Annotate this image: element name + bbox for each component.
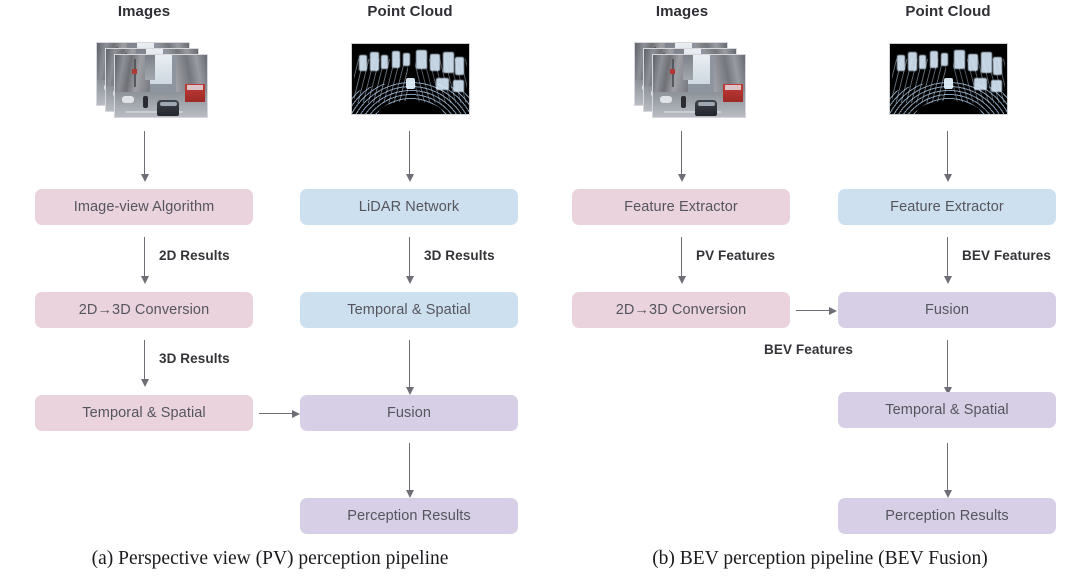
panel-b-arrow-temporal-spatial-to-perception-results	[947, 443, 948, 491]
panel-a-lidar-point-cloud-icon	[351, 43, 470, 115]
panel-a-node-2d-3d-conversion[interactable]: 2D→3D Conversion	[35, 292, 253, 328]
node-label: Temporal & Spatial	[347, 302, 471, 318]
panel-b-node-fusion[interactable]: Fusion	[838, 292, 1056, 328]
panel-a-arrow-3d-results-right	[409, 237, 410, 277]
panel-a-edge-label-3d-results-right: 3D Results	[424, 248, 495, 263]
panel-a-node-perception-results[interactable]: Perception Results	[300, 498, 518, 534]
node-label: Fusion	[387, 405, 431, 421]
panel-a-node-image-view-algorithm[interactable]: Image-view Algorithm	[35, 189, 253, 225]
panel-b-arrow-pointcloud-to-feature-extractor	[947, 131, 948, 175]
panel-a-node-fusion[interactable]: Fusion	[300, 395, 518, 431]
panel-a-arrow-images-to-image-view-algorithm	[144, 131, 145, 175]
panel-b-node-feature-extractor-lidar[interactable]: Feature Extractor	[838, 189, 1056, 225]
panel-a-arrow-2d-results	[144, 237, 145, 277]
panel-b-arrow-bev-features-right	[947, 237, 948, 277]
panel-b-edge-label-bev-features-right: BEV Features	[962, 248, 1051, 263]
image-sheet-front	[652, 54, 746, 118]
panel-a-node-temporal-spatial-image[interactable]: Temporal & Spatial	[35, 395, 253, 431]
panel-a-column-title-images: Images	[84, 3, 204, 20]
panel-b-column-title-point-cloud: Point Cloud	[886, 3, 1010, 20]
node-label: Temporal & Spatial	[82, 405, 206, 421]
panel-b-edge-label-pv-features: PV Features	[696, 248, 775, 263]
panel-b-caption: (b) BEV perception pipeline (BEV Fusion)	[570, 548, 1070, 570]
node-label: Temporal & Spatial	[885, 402, 1009, 418]
panel-a-column-title-point-cloud: Point Cloud	[348, 3, 472, 20]
node-label: LiDAR Network	[359, 199, 459, 215]
panel-b-camera-image-stack-icon	[634, 42, 746, 118]
panel-b-arrow-pv-features	[681, 237, 682, 277]
panel-b-node-temporal-spatial[interactable]: Temporal & Spatial	[838, 392, 1056, 428]
panel-b-arrow-fusion-to-temporal-spatial	[947, 340, 948, 388]
panel-b-column-title-images: Images	[622, 3, 742, 20]
panel-b-node-2d-3d-conversion[interactable]: 2D→3D Conversion	[572, 292, 790, 328]
node-label: 2D→3D Conversion	[79, 302, 210, 318]
panel-a-arrow-temporal-spatial-to-fusion-horizontal	[259, 413, 293, 414]
panel-a-edge-label-3d-results-left: 3D Results	[159, 351, 230, 366]
street-scene-thumbnail	[115, 55, 207, 117]
node-label: Perception Results	[347, 508, 471, 524]
panel-b-node-perception-results[interactable]: Perception Results	[838, 498, 1056, 534]
image-sheet-front	[114, 54, 208, 118]
panel-a-caption: (a) Perspective view (PV) perception pip…	[20, 548, 520, 570]
node-label: Perception Results	[885, 508, 1009, 524]
node-label: 2D→3D Conversion	[616, 302, 747, 318]
street-scene-thumbnail	[653, 55, 745, 117]
panel-b-node-feature-extractor-image[interactable]: Feature Extractor	[572, 189, 790, 225]
panel-a-arrow-fusion-to-perception-results	[409, 443, 410, 491]
node-label: Feature Extractor	[624, 199, 738, 215]
panel-a-node-lidar-network[interactable]: LiDAR Network	[300, 189, 518, 225]
node-label: Feature Extractor	[890, 199, 1004, 215]
panel-a-camera-image-stack-icon	[96, 42, 208, 118]
panel-b-lidar-point-cloud-icon	[889, 43, 1008, 115]
panel-b-arrow-images-to-feature-extractor	[681, 131, 682, 175]
panel-b-edge-label-bev-features-middle: BEV Features	[764, 342, 853, 357]
panel-a-arrow-3d-results-left	[144, 340, 145, 380]
panel-a-node-temporal-spatial-lidar[interactable]: Temporal & Spatial	[300, 292, 518, 328]
node-label: Image-view Algorithm	[74, 199, 215, 215]
panel-a-arrow-temporal-spatial-to-fusion	[409, 340, 410, 388]
panel-a-arrow-pointcloud-to-lidar-network	[409, 131, 410, 175]
panel-a-edge-label-2d-results: 2D Results	[159, 248, 230, 263]
node-label: Fusion	[925, 302, 969, 318]
figure-canvas: Images Point Cloud	[0, 0, 1080, 581]
panel-b-arrow-conversion-to-fusion	[796, 310, 830, 311]
